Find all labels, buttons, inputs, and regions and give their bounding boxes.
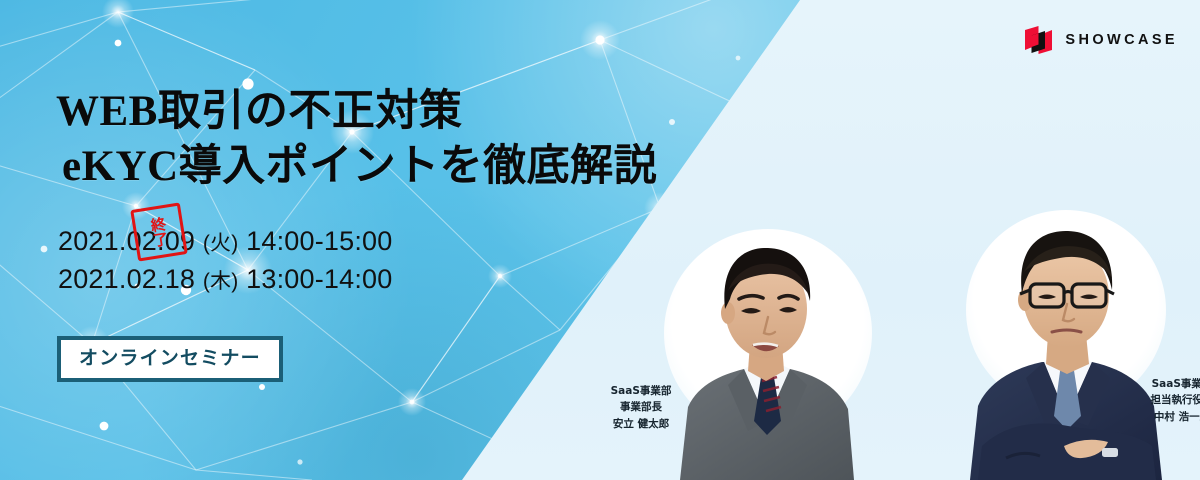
session-weekday-1: (火) bbox=[203, 232, 239, 255]
speaker-title-1: 事業部長 bbox=[556, 399, 726, 415]
page-title: WEB取引の不正対策 eKYC導入ポイントを徹底解説 bbox=[56, 84, 657, 194]
session-weekday-2: (木) bbox=[203, 270, 239, 293]
speaker-photo-gray-suit bbox=[640, 225, 890, 480]
speaker-department-1: SaaS事業部 bbox=[556, 383, 726, 399]
showcase-logo[interactable]: SHOWCASE bbox=[1025, 26, 1178, 54]
showcase-logo-mark bbox=[1025, 26, 1052, 54]
speaker-department-2: SaaS事業部 bbox=[1102, 376, 1200, 392]
speaker-name-1: 安立 健太郎 bbox=[556, 416, 726, 432]
online-seminar-badge[interactable]: オンラインセミナー bbox=[57, 336, 283, 382]
speaker-name-2: 中村 浩一郎 bbox=[1102, 409, 1200, 425]
session-date-1: 2021.02.09 bbox=[58, 226, 195, 256]
speaker-card-2: SaaS事業部 担当執行役員 中村 浩一郎 bbox=[952, 210, 1190, 480]
session-time-2: 13:00-14:00 bbox=[246, 264, 392, 294]
speaker-photo-navy-suit bbox=[952, 210, 1190, 480]
headline-line-1: WEB取引の不正対策 bbox=[56, 84, 657, 139]
headline-line-2: eKYC導入ポイントを徹底解説 bbox=[56, 139, 657, 194]
session-date-row-2: 2021.02.18 (木) 13:00-14:00 bbox=[58, 260, 392, 298]
showcase-logo-text: SHOWCASE bbox=[1065, 33, 1178, 48]
speaker-caption-1: SaaS事業部 事業部長 安立 健太郎 bbox=[556, 383, 726, 432]
session-date-2: 2021.02.18 bbox=[58, 264, 195, 294]
session-time-1: 14:00-15:00 bbox=[246, 226, 392, 256]
speaker-caption-2: SaaS事業部 担当執行役員 中村 浩一郎 bbox=[1102, 376, 1200, 425]
session-date-row-1: 2021.02.09 (火) 14:00-15:00 終了 bbox=[58, 222, 392, 260]
speaker-title-2: 担当執行役員 bbox=[1102, 392, 1200, 408]
session-dates: 2021.02.09 (火) 14:00-15:00 終了 2021.02.18… bbox=[58, 222, 392, 299]
speaker-card-1: SaaS事業部 事業部長 安立 健太郎 bbox=[640, 225, 890, 480]
seminar-banner: SHOWCASE WEB取引の不正対策 eKYC導入ポイントを徹底解説 2021… bbox=[0, 0, 1200, 480]
